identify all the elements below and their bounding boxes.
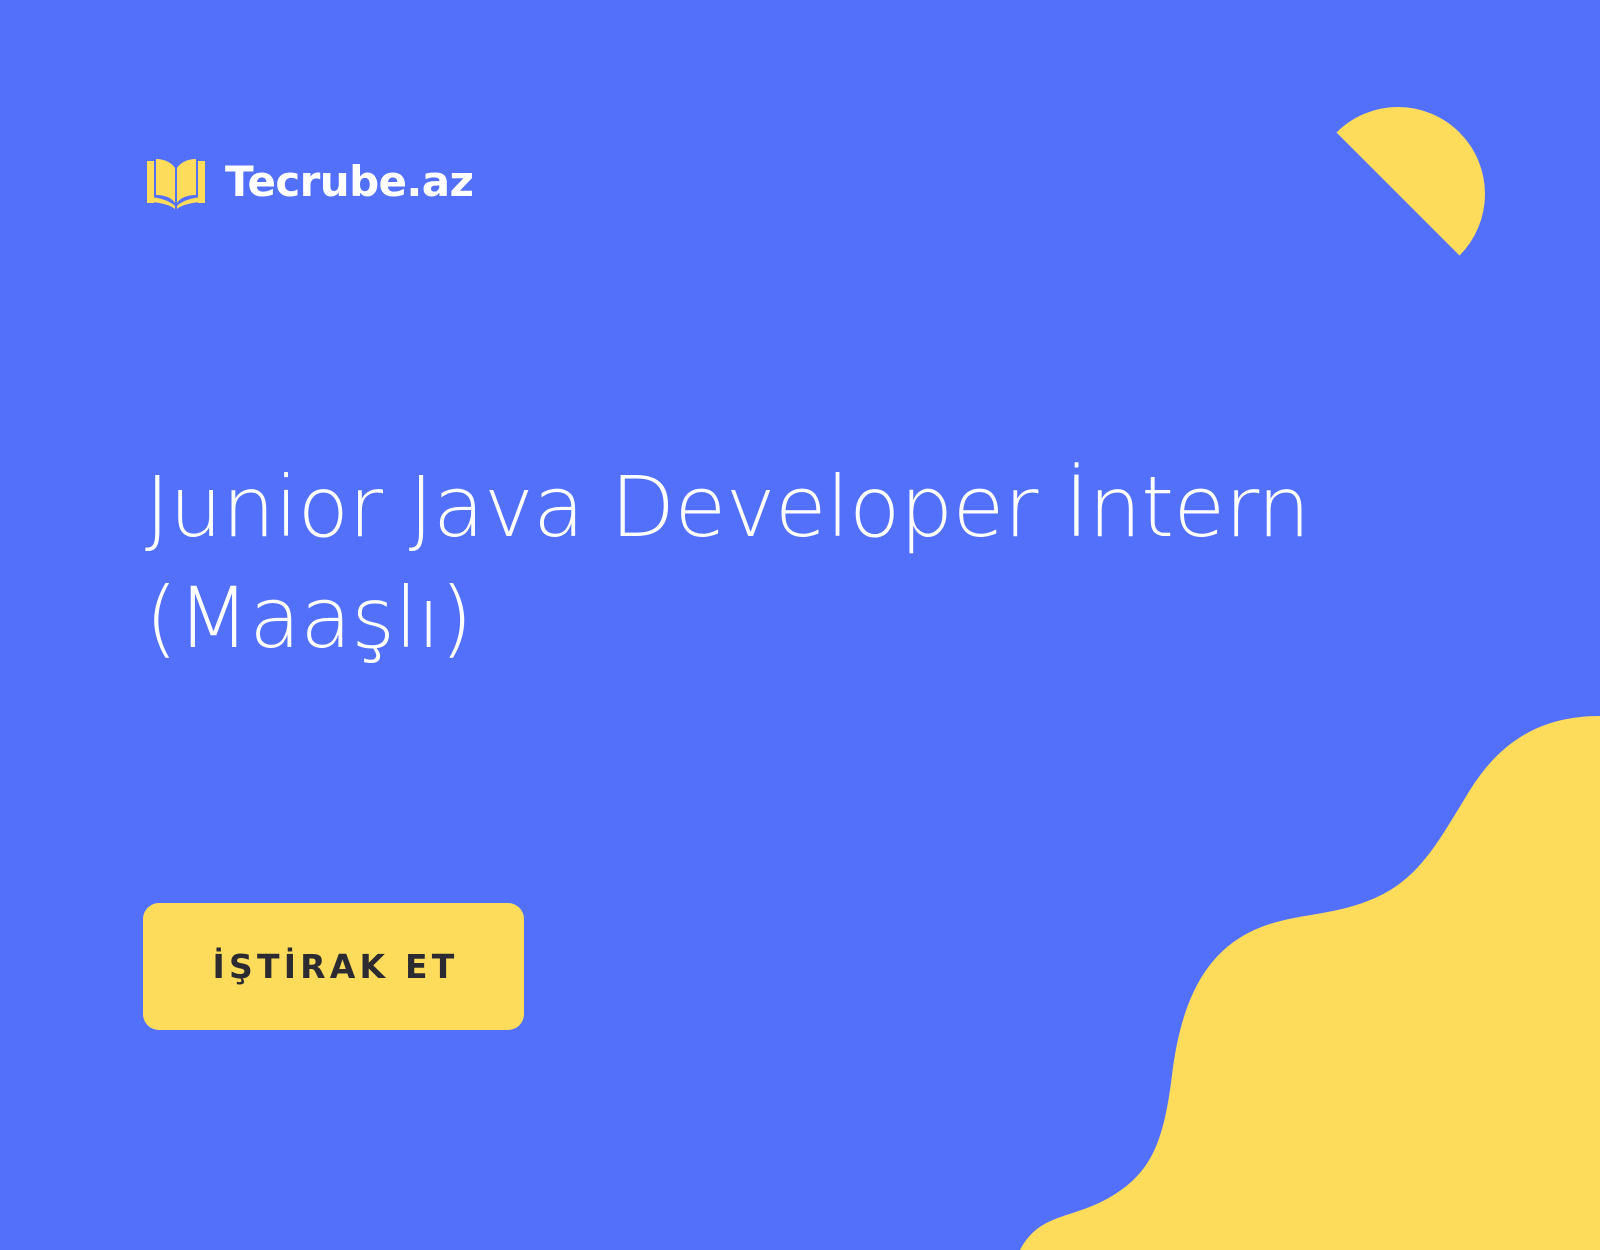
open-book-icon — [145, 155, 207, 209]
brand-name: Tecrube.az — [225, 161, 473, 203]
page-title: Junior Java Developer İntern (Maaşlı) — [145, 452, 1325, 674]
job-announcement-poster: Tecrube.az Junior Java Developer İntern … — [0, 0, 1600, 1250]
brand-logo[interactable]: Tecrube.az — [145, 155, 473, 209]
apply-button[interactable]: İŞTİRAK ET — [143, 903, 524, 1030]
page-title-line-1: Junior Java Developer İntern — [145, 458, 1310, 556]
half-circle-top-right-icon — [1336, 71, 1521, 256]
page-title-line-2: (Maaşlı) — [145, 569, 472, 667]
wave-blob-bottom-right-icon — [1020, 716, 1600, 1250]
